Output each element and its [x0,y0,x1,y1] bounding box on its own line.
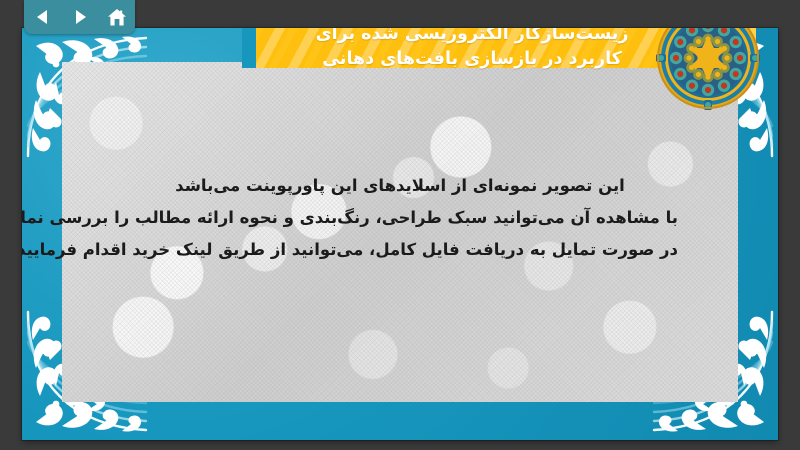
slide-viewer: این تصویر نمونه‌ای از اسلایدهای این پاور… [0,0,800,450]
slide-body-text: این تصویر نمونه‌ای از اسلایدهای این پاور… [122,170,678,266]
home-icon [107,8,127,27]
home-button[interactable] [104,4,130,30]
banner-left-edge [242,28,256,68]
triangle-right-icon [71,8,89,26]
body-line-2: با مشاهده آن می‌توانید سبک طراحی، رنگ‌بن… [122,202,678,234]
previous-slide-button[interactable] [30,4,56,30]
slide-content-panel: این تصویر نمونه‌ای از اسلایدهای این پاور… [62,62,738,402]
slide-canvas: این تصویر نمونه‌ای از اسلایدهای این پاور… [22,28,778,440]
navigation-toolbar [24,0,135,34]
persian-medallion-ornament [656,28,760,110]
body-line-3: در صورت تمایل به دریافت فایل کامل، می‌تو… [122,234,678,266]
body-line-1: این تصویر نمونه‌ای از اسلایدهای این پاور… [122,170,678,202]
slide-title: کامل ساخت و ارزیابی غشای زیست‌سازگار الک… [306,28,707,72]
triangle-left-icon [34,8,52,26]
next-slide-button[interactable] [67,4,93,30]
